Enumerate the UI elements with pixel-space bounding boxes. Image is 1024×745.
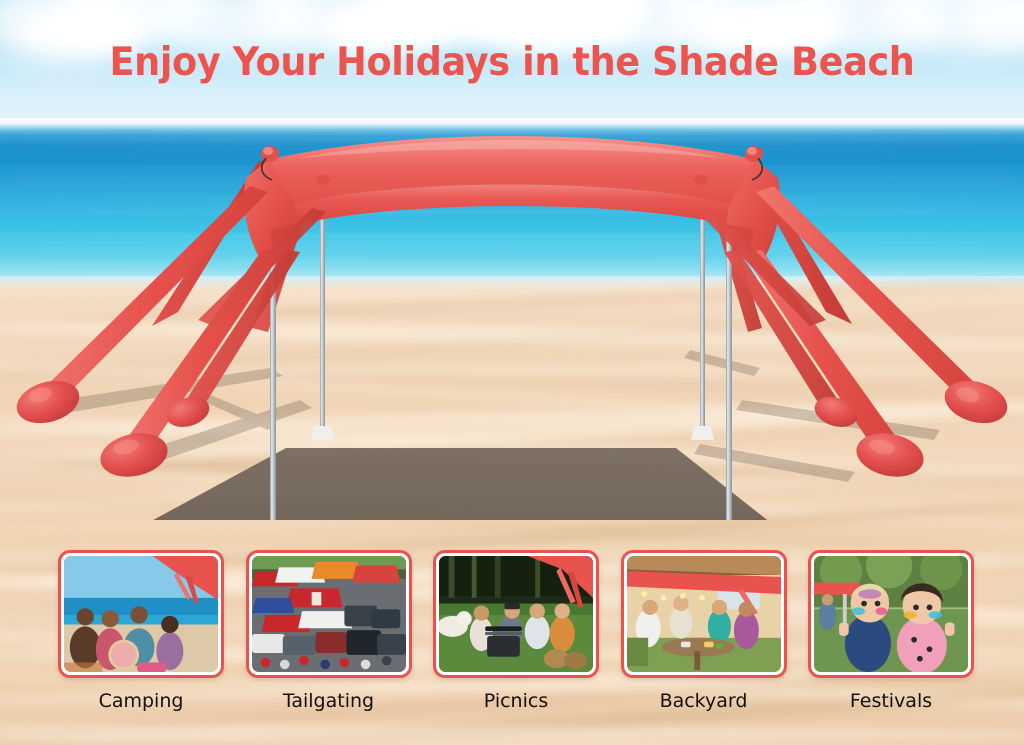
caption-picnics: Picnics bbox=[433, 686, 599, 720]
caption-festivals: Festivals bbox=[808, 686, 974, 720]
canopy-ground-shadow-mat bbox=[120, 448, 790, 520]
thumbnail-image-camping bbox=[64, 556, 218, 672]
use-case-thumbnail-row bbox=[58, 550, 974, 680]
thumbnail-image-backyard bbox=[627, 556, 781, 672]
thumbnail-camping[interactable] bbox=[58, 550, 224, 678]
product-illustration-beach-canopy bbox=[0, 100, 1024, 520]
thumbnail-tailgating[interactable] bbox=[246, 550, 412, 678]
caption-backyard: Backyard bbox=[621, 686, 787, 720]
thumbnail-picnics[interactable] bbox=[433, 550, 599, 678]
caption-camping: Camping bbox=[58, 686, 224, 720]
thumbnail-backyard[interactable] bbox=[621, 550, 787, 678]
thumbnail-image-tailgating bbox=[252, 556, 406, 672]
thumbnail-image-picnics bbox=[439, 556, 593, 672]
thumbnail-image-festivals bbox=[814, 556, 968, 672]
promo-banner: Enjoy Your Holidays in the Shade Beach bbox=[0, 0, 1024, 745]
sandbag-anchor bbox=[96, 427, 171, 482]
caption-tailgating: Tailgating bbox=[246, 686, 412, 720]
page-title: Enjoy Your Holidays in the Shade Beach bbox=[31, 40, 994, 85]
use-case-caption-row: Camping Tailgating Picnics Backyard Fest… bbox=[58, 686, 974, 720]
thumbnail-festivals[interactable] bbox=[808, 550, 974, 678]
